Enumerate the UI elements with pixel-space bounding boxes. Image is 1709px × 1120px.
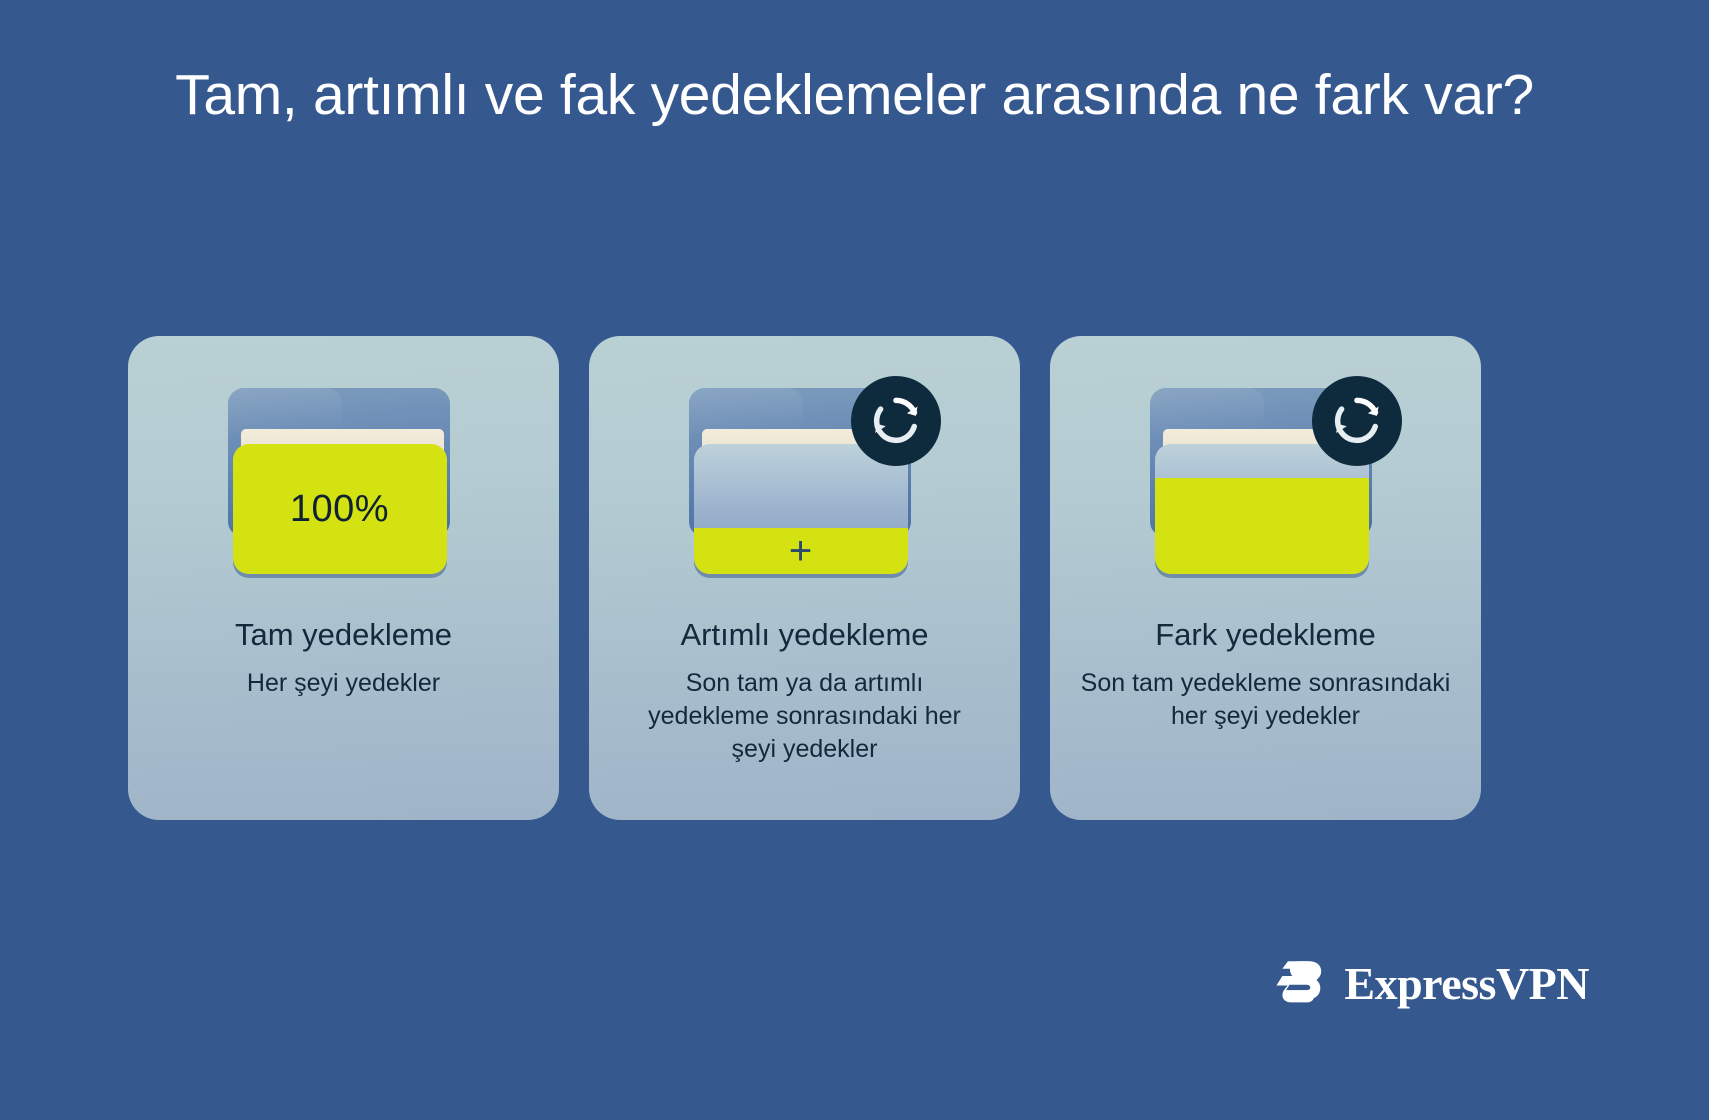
card-heading: Fark yedekleme (1137, 616, 1394, 653)
card-incremental-backup: + Artımlı yedekleme Son tam ya da artıml… (589, 336, 1020, 820)
card-icon-area (1136, 380, 1396, 590)
fill-percentage-label: 100% (290, 488, 389, 531)
sync-icon (851, 376, 941, 466)
folder-tab (689, 388, 803, 434)
expressvpn-logo-mark (1268, 953, 1330, 1015)
card-description: Son tam ya da artımlı yedekleme sonrasın… (605, 667, 1005, 766)
folder-icon: 100% (228, 388, 450, 574)
card-icon-area: + (675, 380, 935, 590)
card-icon-area: 100% (214, 380, 474, 590)
folder-front-panel: 100% (233, 444, 447, 574)
folder-fill-indicator: 100% (233, 444, 447, 574)
card-full-backup: 100% Tam yedekleme Her şeyi yedekler (128, 336, 559, 820)
plus-icon: + (789, 531, 812, 571)
page-title: Tam, artımlı ve fak yedeklemeler arasınd… (145, 62, 1565, 128)
card-description: Son tam yedekleme sonrasındaki her şeyi … (1051, 667, 1481, 733)
card-differential-backup: Fark yedekleme Son tam yedekleme sonrası… (1050, 336, 1481, 820)
card-description: Her şeyi yedekler (223, 667, 464, 700)
sync-icon (1312, 376, 1402, 466)
backup-type-cards: 100% Tam yedekleme Her şeyi yedekler + (128, 336, 1481, 820)
expressvpn-logo: ExpressVPN (1268, 953, 1589, 1015)
card-heading: Artımlı yedekleme (662, 616, 946, 653)
folder-front-panel (1155, 444, 1369, 574)
folder-fill-indicator (1155, 478, 1369, 574)
card-heading: Tam yedekleme (217, 616, 470, 653)
infographic-page: Tam, artımlı ve fak yedeklemeler arasınd… (0, 0, 1709, 1120)
folder-tab (228, 388, 342, 434)
expressvpn-wordmark: ExpressVPN (1344, 961, 1589, 1007)
folder-fill-indicator: + (694, 528, 908, 574)
folder-tab (1150, 388, 1264, 434)
folder-front-panel: + (694, 444, 908, 574)
